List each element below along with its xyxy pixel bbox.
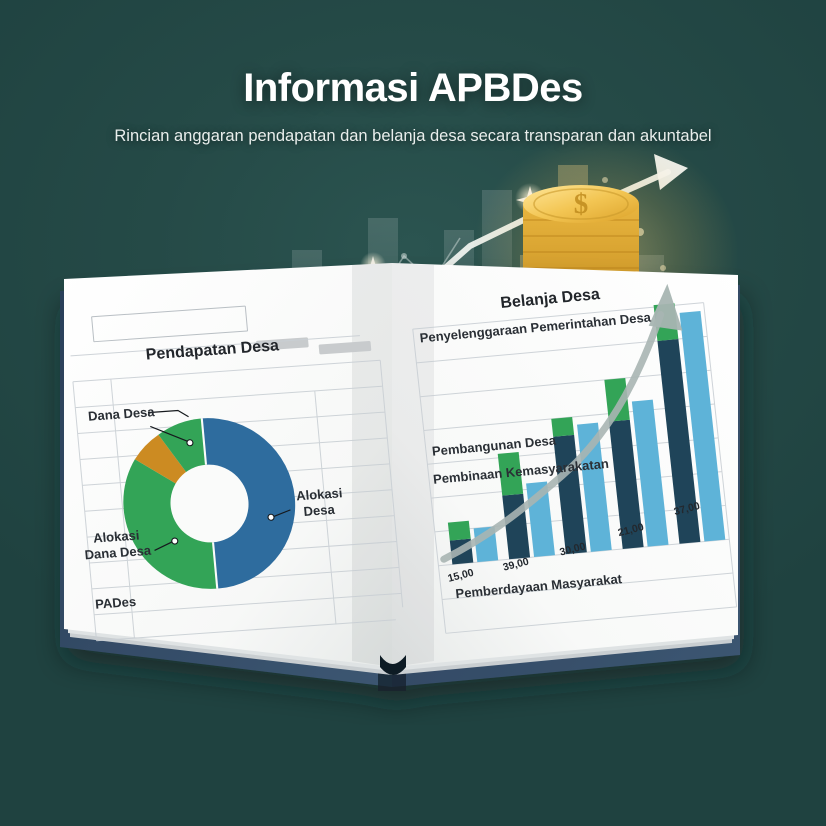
page-header: Informasi APBDes Rincian anggaran pendap… (0, 66, 826, 146)
donut-label-pades: PADes (94, 594, 136, 612)
right-page-content: Belanja Desa (400, 257, 759, 654)
poster-canvas: Informasi APBDes Rincian anggaran pendap… (0, 0, 826, 826)
svg-text:$: $ (574, 188, 589, 220)
donut-callouts (56, 278, 420, 679)
left-page-content: Pendapatan Desa (56, 278, 420, 679)
donut-label-alokasi-desa-line1: Alokasi (296, 485, 344, 503)
page-subtitle: Rincian anggaran pendapatan dan belanja … (0, 127, 826, 146)
donut-label-alokasi-desa-line2: Desa (303, 502, 335, 519)
page-title: Informasi APBDes (0, 66, 826, 111)
